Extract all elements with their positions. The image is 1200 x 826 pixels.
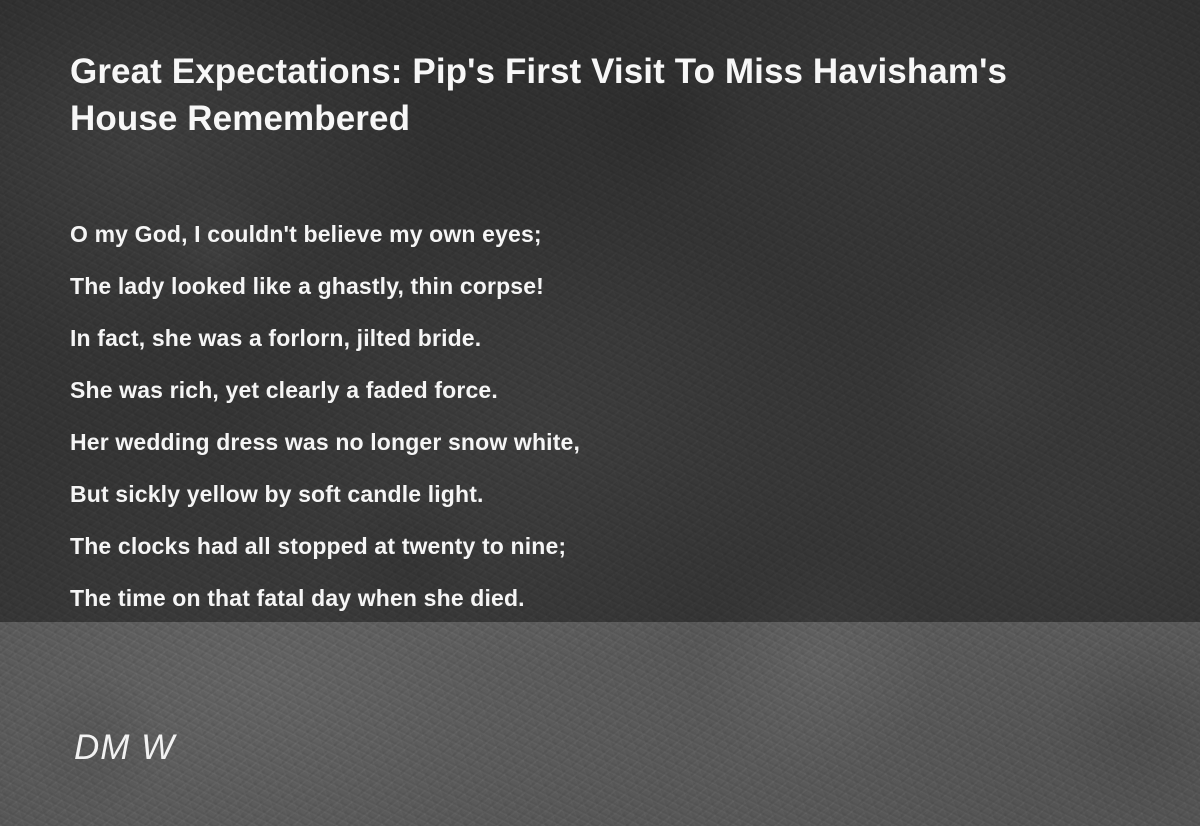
poem-line: The time on that fatal day when she died… bbox=[70, 572, 1030, 624]
poem-line: The clocks had all stopped at twenty to … bbox=[70, 520, 1030, 572]
poem-line: O my God, I couldn't believe my own eyes… bbox=[70, 208, 1030, 260]
poem-body: O my God, I couldn't believe my own eyes… bbox=[70, 208, 1030, 624]
poem-line: The lady looked like a ghastly, thin cor… bbox=[70, 260, 1030, 312]
poem-line: In fact, she was a forlorn, jilted bride… bbox=[70, 312, 1030, 364]
poem-line: She was rich, yet clearly a faded force. bbox=[70, 364, 1030, 416]
poem-title: Great Expectations: Pip's First Visit To… bbox=[70, 48, 1010, 142]
author-signature: DM W bbox=[74, 728, 175, 768]
poem-image-card: Great Expectations: Pip's First Visit To… bbox=[0, 0, 1200, 826]
poem-line: But sickly yellow by soft candle light. bbox=[70, 468, 1030, 520]
poem-content: Great Expectations: Pip's First Visit To… bbox=[0, 0, 1200, 826]
poem-line: Her wedding dress was no longer snow whi… bbox=[70, 416, 1030, 468]
